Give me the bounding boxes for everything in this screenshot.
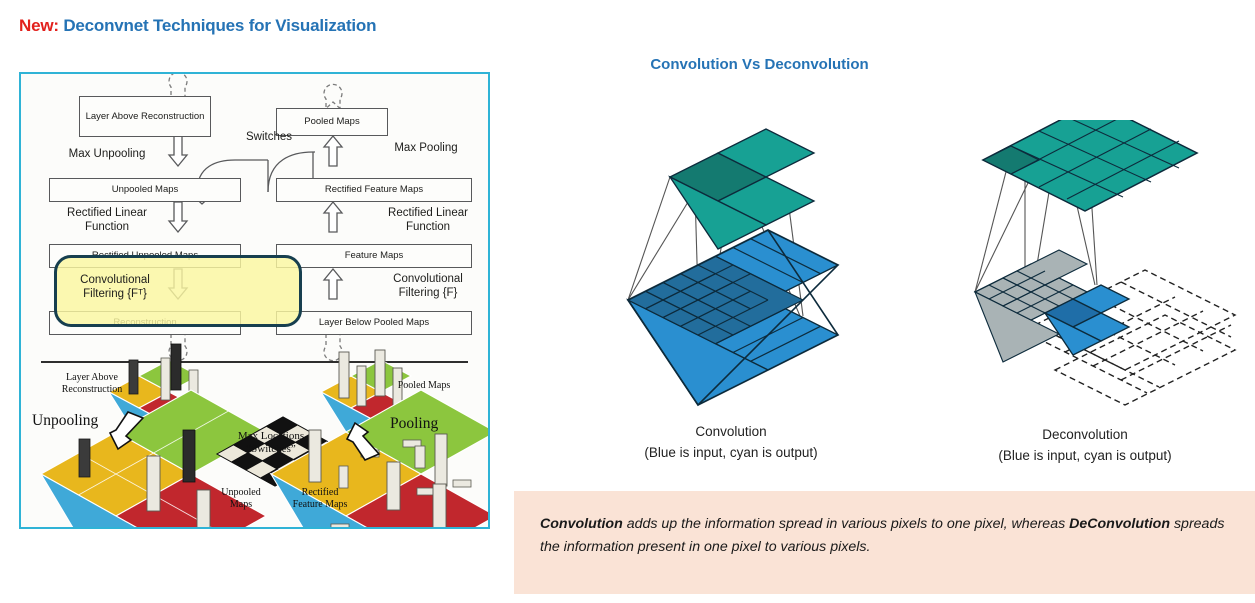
deconvolution-diagram (945, 120, 1245, 410)
conv-section-title-text: Convolution Vs Deconvolution (650, 56, 868, 73)
convolution-diagram (600, 120, 900, 410)
pic-label-rectified-feature-maps: Rectified Feature Maps (282, 487, 358, 510)
page-title-new-badge: New: (19, 16, 59, 35)
deconvolution-caption: Deconvolution (Blue is input, cyan is ou… (954, 425, 1216, 467)
pic-label-max-locations-switches: Max Locations “Switches” (206, 430, 336, 455)
page-title: New: Deconvnet Techniques for Visualizat… (19, 16, 376, 36)
pic-label-unpooling: Unpooling (32, 412, 98, 430)
pic-label-unpooled-maps: Unpooled Maps (206, 487, 276, 510)
pic-label-pooled-maps: Pooled Maps (379, 380, 469, 392)
conv-section-title: Convolution Vs Deconvolution (0, 56, 1255, 73)
deconvnet-flow-diagram: Layer Above Reconstruction Unpooled Maps… (21, 74, 488, 527)
label-convolutional-filtering-left: Convolutional Filtering {Fᵀ} (61, 273, 169, 302)
pic-label-layer-above-reconstruction: Layer Above Reconstruction (47, 372, 137, 395)
summary-note-text: Convolution adds up the information spre… (540, 513, 1231, 559)
convolution-input-grid (628, 230, 838, 405)
pic-label-pooling: Pooling (390, 415, 438, 433)
note-bold-convolution: Convolution (540, 516, 623, 532)
note-bold-deconvolution: DeConvolution (1069, 516, 1170, 532)
deconvnet-figure-panel: Layer Above Reconstruction Unpooled Maps… (19, 72, 490, 529)
note-part-1: adds up the information spread in variou… (623, 516, 1069, 532)
convolution-caption: Convolution (Blue is input, cyan is outp… (600, 422, 862, 464)
page-title-text: Deconvnet Techniques for Visualization (59, 16, 376, 35)
deconvolution-input-grid (975, 250, 1129, 362)
summary-note-box: Convolution adds up the information spre… (514, 491, 1255, 594)
deconvolution-output-grid (983, 120, 1197, 211)
